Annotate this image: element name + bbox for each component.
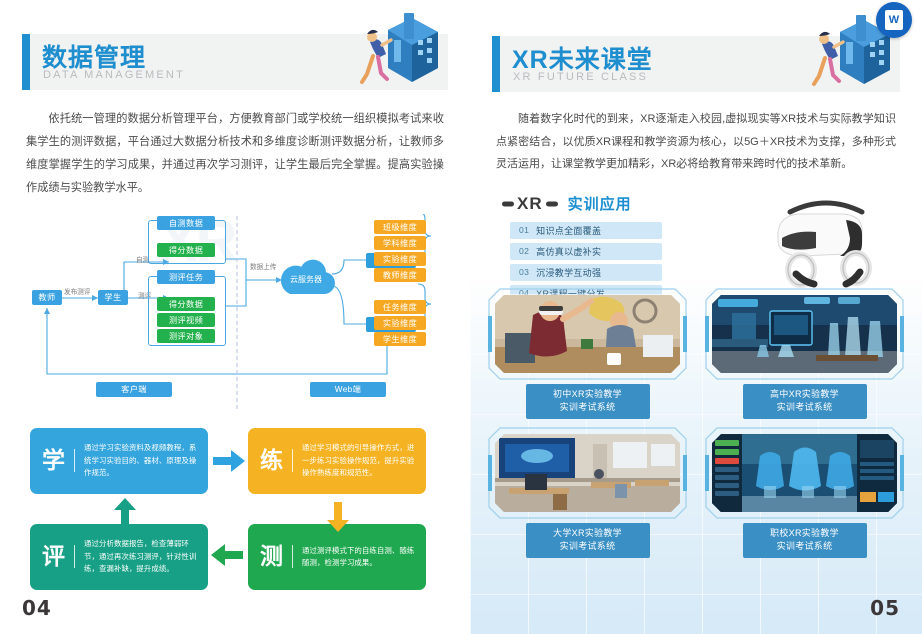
diagram-node-web-side: Web端 xyxy=(310,382,386,397)
diagram-node-self-score: 得分数据 xyxy=(157,243,215,257)
xr-mark-label: XR xyxy=(510,194,550,214)
diagram-node-eval-video: 测评视频 xyxy=(157,313,215,327)
right-page-header: XR未来课堂 XR FUTURE CLASS xyxy=(492,36,900,92)
edge-label-publish: 发布测评 xyxy=(64,286,90,296)
diagram-node-dim-student: 学生维度 xyxy=(374,332,426,346)
photo-cell-2: 高中XR实验教学 实训考试系统 xyxy=(705,288,904,419)
left-page-header: 数据管理 DATA MANAGEMENT xyxy=(22,34,448,90)
xr-item-number: 01 xyxy=(519,225,529,235)
photo-gallery: 初中XR实验教学 实训考试系统 xyxy=(488,288,904,566)
header-accent-bar xyxy=(22,34,30,90)
right-body-paragraph: 随着数字化时代的到来，XR逐渐走入校园,虚拟现实等XR技术与实际教学知识点紧密结… xyxy=(496,108,896,176)
photo-cell-1: 初中XR实验教学 实训考试系统 xyxy=(488,288,687,419)
xr-item-number: 02 xyxy=(519,246,529,256)
xr-item-number: 03 xyxy=(519,267,529,277)
diagram-node-student: 学生 xyxy=(98,290,128,305)
diagram-node-dim-class: 班级维度 xyxy=(374,220,426,234)
server-illustration-icon xyxy=(326,12,446,94)
cycle-card-evaluate: 评 通过分析数据报告，检查薄弱环节，通过再次练习测评，针对性训练，查漏补缺，提升… xyxy=(30,524,208,590)
cycle-card-practice: 练 通过学习模式的引导操作方式，进一步练习实验操作规范，提升实验操作熟练度和规范… xyxy=(248,428,426,494)
photo-caption-2: 高中XR实验教学 实训考试系统 xyxy=(743,384,867,419)
arrow-down-icon xyxy=(327,502,349,537)
photo-caption-3-line2: 实训考试系统 xyxy=(526,540,650,553)
diagram-node-eval-score: 得分数据 xyxy=(157,297,215,311)
diagram-node-client-side: 客户端 xyxy=(96,382,172,397)
photo-caption-1-line1: 初中XR实验教学 xyxy=(526,388,650,401)
page-right: W XR未来课堂 XR FUTURE CLASS xyxy=(470,0,922,634)
diagram-node-teacher: 教师 xyxy=(32,290,62,305)
xr-item-label: 知识点全面覆盖 xyxy=(536,224,601,237)
cycle-card-practice-text: 通过学习模式的引导操作方式，进一步练习实验操作规范，提升实验操作熟练度和规范性。 xyxy=(302,442,416,479)
photo-caption-4-line1: 职校XR实验教学 xyxy=(743,527,867,540)
diagram-node-eval-task: 测评任务 xyxy=(157,270,215,284)
photo-cell-3: 大学XR实验教学 实训考试系统 xyxy=(488,427,687,558)
photo-frame xyxy=(705,288,904,380)
xr-application-item-02[interactable]: 02 高仿真以虚补实 xyxy=(510,243,662,260)
header-accent-bar xyxy=(492,36,500,92)
photo-student-vr-classroom xyxy=(495,295,680,373)
cycle-card-learn: 学 通过学习实验资料及视频教程，系统学习实验目的、器材、原理及操作规范。 xyxy=(30,428,208,494)
photo-caption-2-line1: 高中XR实验教学 xyxy=(743,388,867,401)
arrow-up-icon xyxy=(114,498,136,533)
xr-application-item-03[interactable]: 03 沉浸教学互动强 xyxy=(510,264,662,281)
diagram-node-eval-object: 测评对象 xyxy=(157,329,215,343)
word-document-icon[interactable]: W xyxy=(876,2,912,38)
photo-caption-3: 大学XR实验教学 实训考试系统 xyxy=(526,523,650,558)
cycle-card-learn-text: 通过学习实验资料及视频教程，系统学习实验目的、器材、原理及操作规范。 xyxy=(84,442,198,479)
xr-item-label: 高仿真以虚补实 xyxy=(536,245,601,258)
cycle-card-test-char: 测 xyxy=(260,545,293,568)
page-number-right: 05 xyxy=(870,596,900,620)
page-left: 数据管理 DATA MANAGEMENT xyxy=(0,0,470,634)
brochure-spread: 数据管理 DATA MANAGEMENT xyxy=(0,0,922,634)
diagram-node-self-test-data: 自测数据 xyxy=(157,216,215,230)
photo-row-2: 大学XR实验教学 实训考试系统 xyxy=(488,427,904,558)
page-subtitle: XR FUTURE CLASS xyxy=(513,71,648,83)
cycle-card-practice-char: 练 xyxy=(260,449,293,472)
diagram-node-dim-task: 任务维度 xyxy=(374,300,426,314)
photo-frame xyxy=(488,427,687,519)
left-body-paragraph: 依托统一管理的数据分析管理平台，方便教育部门或学校统一组织模拟考试来收集学生的测… xyxy=(26,108,444,200)
page-number-left: 04 xyxy=(22,596,52,620)
cycle-card-learn-char: 学 xyxy=(42,449,75,472)
photo-row-1: 初中XR实验教学 实训考试系统 xyxy=(488,288,904,419)
photo-frame xyxy=(705,427,904,519)
photo-virtual-chem-lab xyxy=(712,295,897,373)
word-document-letter: W xyxy=(885,10,903,30)
photo-caption-2-line2: 实训考试系统 xyxy=(743,401,867,414)
cycle-card-test-text: 通过测评模式下的自练自测、随练随测，检测学习成果。 xyxy=(302,545,416,569)
edge-label-upload: 数据上传 xyxy=(250,264,268,272)
xr-section-title: 实训应用 xyxy=(568,193,632,214)
page-subtitle: DATA MANAGEMENT xyxy=(43,69,185,81)
diagram-node-dim-experiment2: 实验维度 xyxy=(374,316,426,330)
photo-caption-3-line1: 大学XR实验教学 xyxy=(526,527,650,540)
xr-application-item-01[interactable]: 01 知识点全面覆盖 xyxy=(510,222,662,239)
photo-caption-1: 初中XR实验教学 实训考试系统 xyxy=(526,384,650,419)
photo-caption-4-line2: 实训考试系统 xyxy=(743,540,867,553)
photo-caption-1-line2: 实训考试系统 xyxy=(526,401,650,414)
photo-caption-4: 职校XR实验教学 实训考试系统 xyxy=(743,523,867,558)
photo-frame xyxy=(488,288,687,380)
photo-computer-lab-room xyxy=(495,434,680,512)
photo-3d-simulation-ui xyxy=(712,434,897,512)
data-flow-diagram: XR xyxy=(14,214,456,414)
diagram-node-dim-teacher: 教师维度 xyxy=(374,268,426,282)
diagram-node-dim-subject: 学科维度 xyxy=(374,236,426,250)
photo-cell-4: 职校XR实验教学 实训考试系统 xyxy=(705,427,904,558)
cycle-card-evaluate-char: 评 xyxy=(42,545,75,568)
diagram-node-dim-experiment: 实验维度 xyxy=(374,252,426,266)
learning-cycle-diagram: 学 通过学习实验资料及视频教程，系统学习实验目的、器材、原理及操作规范。 练 通… xyxy=(30,428,440,593)
cloud-server-label: 云服务器 xyxy=(278,274,334,285)
vr-headset-icon xyxy=(738,186,914,290)
arrow-left-icon xyxy=(211,544,243,571)
arrow-right-icon xyxy=(213,450,245,477)
xr-item-label: 沉浸教学互动强 xyxy=(536,266,601,279)
cycle-card-evaluate-text: 通过分析数据报告，检查薄弱环节，通过再次练习测评，针对性训练，查漏补缺，提升成绩… xyxy=(84,538,198,575)
